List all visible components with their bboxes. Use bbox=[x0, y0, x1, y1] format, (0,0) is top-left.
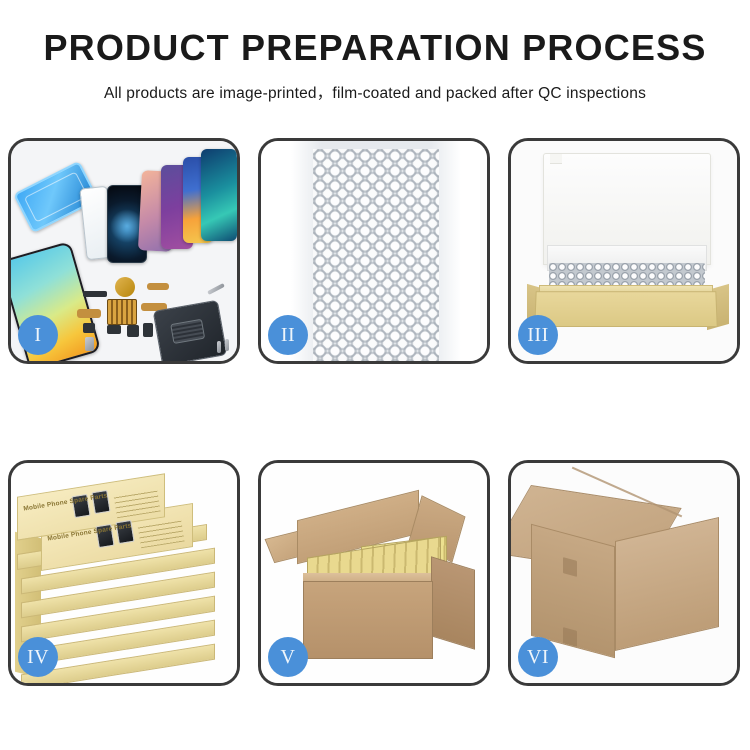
part-small-icon bbox=[83, 323, 95, 333]
step-panel-3: III bbox=[508, 138, 740, 364]
product-preparation-infographic: PRODUCT PREPARATION PROCESS All products… bbox=[0, 0, 750, 750]
step-badge-3: III bbox=[518, 315, 558, 355]
carton-front-panel bbox=[303, 581, 433, 659]
part-flex-cable-icon bbox=[147, 283, 169, 290]
step-badge-6: VI bbox=[518, 637, 558, 677]
step-badge-5: V bbox=[268, 637, 308, 677]
page-title: PRODUCT PREPARATION PROCESS bbox=[0, 28, 750, 68]
sealed-carton-right-face bbox=[615, 517, 719, 651]
carton-tape-1 bbox=[563, 557, 577, 577]
step-badge-1: I bbox=[18, 315, 58, 355]
part-small2-icon bbox=[107, 325, 121, 334]
phone-backplate-icon bbox=[153, 300, 228, 361]
bubble-wrap-icon bbox=[313, 149, 439, 361]
part-flex-cable2-icon bbox=[77, 309, 101, 318]
phone-teal-icon bbox=[201, 149, 237, 241]
part-bar-icon bbox=[83, 291, 107, 297]
page-subtitle: All products are image-printed，film-coat… bbox=[0, 81, 750, 103]
step-panel-2: II bbox=[258, 138, 490, 364]
carton-side-panel bbox=[431, 556, 475, 649]
part-screw-icon bbox=[217, 341, 221, 353]
part-small3-icon bbox=[127, 325, 139, 337]
step-badge-4: IV bbox=[18, 637, 58, 677]
carton-tape-2 bbox=[563, 627, 577, 647]
steps-grid: I II III bbox=[8, 138, 742, 686]
part-speaker-icon bbox=[115, 277, 135, 297]
step-panel-4: Mobile Phone Spare Parts Mobile Phone Sp… bbox=[8, 460, 240, 686]
step-panel-6: VI bbox=[508, 460, 740, 686]
step-panel-1: I bbox=[8, 138, 240, 364]
part-tool-icon bbox=[207, 283, 225, 295]
part-sim-tray-icon bbox=[85, 337, 94, 351]
header: PRODUCT PREPARATION PROCESS All products… bbox=[0, 0, 750, 103]
part-screw2-icon bbox=[225, 339, 229, 351]
box-front-panel bbox=[534, 291, 717, 327]
part-chip-grid-icon bbox=[107, 299, 137, 325]
step-panel-5: V bbox=[258, 460, 490, 686]
part-small4-icon bbox=[143, 323, 153, 337]
step-badge-2: II bbox=[268, 315, 308, 355]
